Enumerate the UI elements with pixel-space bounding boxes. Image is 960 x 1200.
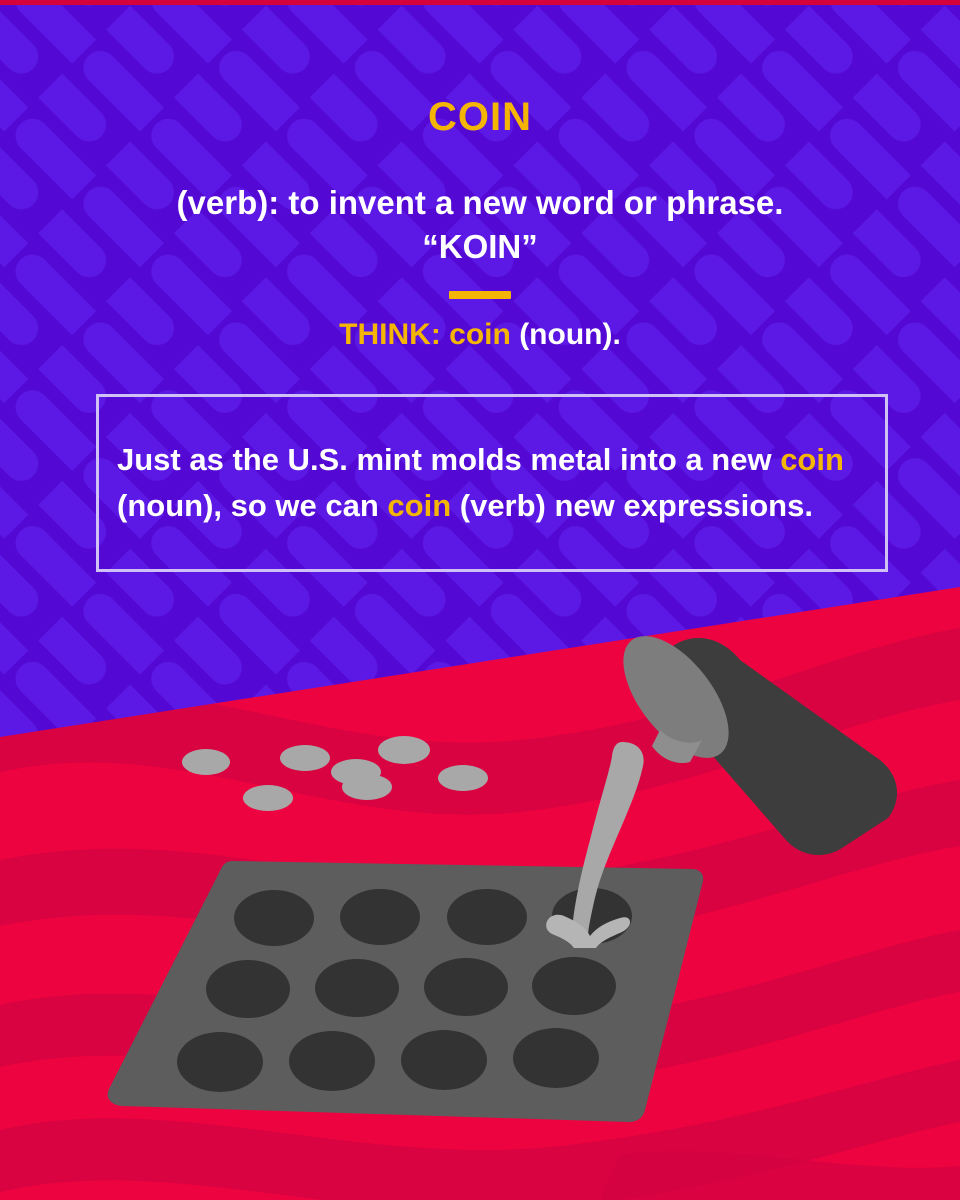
definition-line-1: (verb): to invent a new word or phrase. [177,184,784,221]
divider-dash [449,291,511,299]
mold-cavity [177,1032,263,1092]
text-content: COIN (verb): to invent a new word or phr… [0,0,960,353]
mold-cavity [289,1031,375,1091]
mold-cavity [424,958,508,1016]
mold-cavity [340,889,420,945]
page-title: COIN [0,0,960,139]
think-highlight-word: coin [449,318,511,351]
pronunciation-text: “KOIN” [422,228,538,265]
word-of-the-day-card: COIN (verb): to invent a new word or phr… [0,0,960,1200]
mold-cavity [513,1028,599,1088]
think-label: THINK: [339,318,441,351]
mold-cavity [234,890,314,946]
mold-cavity [447,889,527,945]
crucible [603,618,897,855]
muffin-tin-mold [108,861,704,1122]
mold-cavity [315,959,399,1017]
mold-cavity [206,960,290,1018]
mold-cavity [532,957,616,1015]
think-prompt: THINK: coin (noun). [0,299,960,353]
top-accent-strip [0,0,960,5]
mold-cavity [401,1030,487,1090]
think-part-of-speech: (noun). [519,318,621,351]
scattered-coins [182,736,488,811]
definition-text: (verb): to invent a new word or phrase. … [0,139,960,269]
